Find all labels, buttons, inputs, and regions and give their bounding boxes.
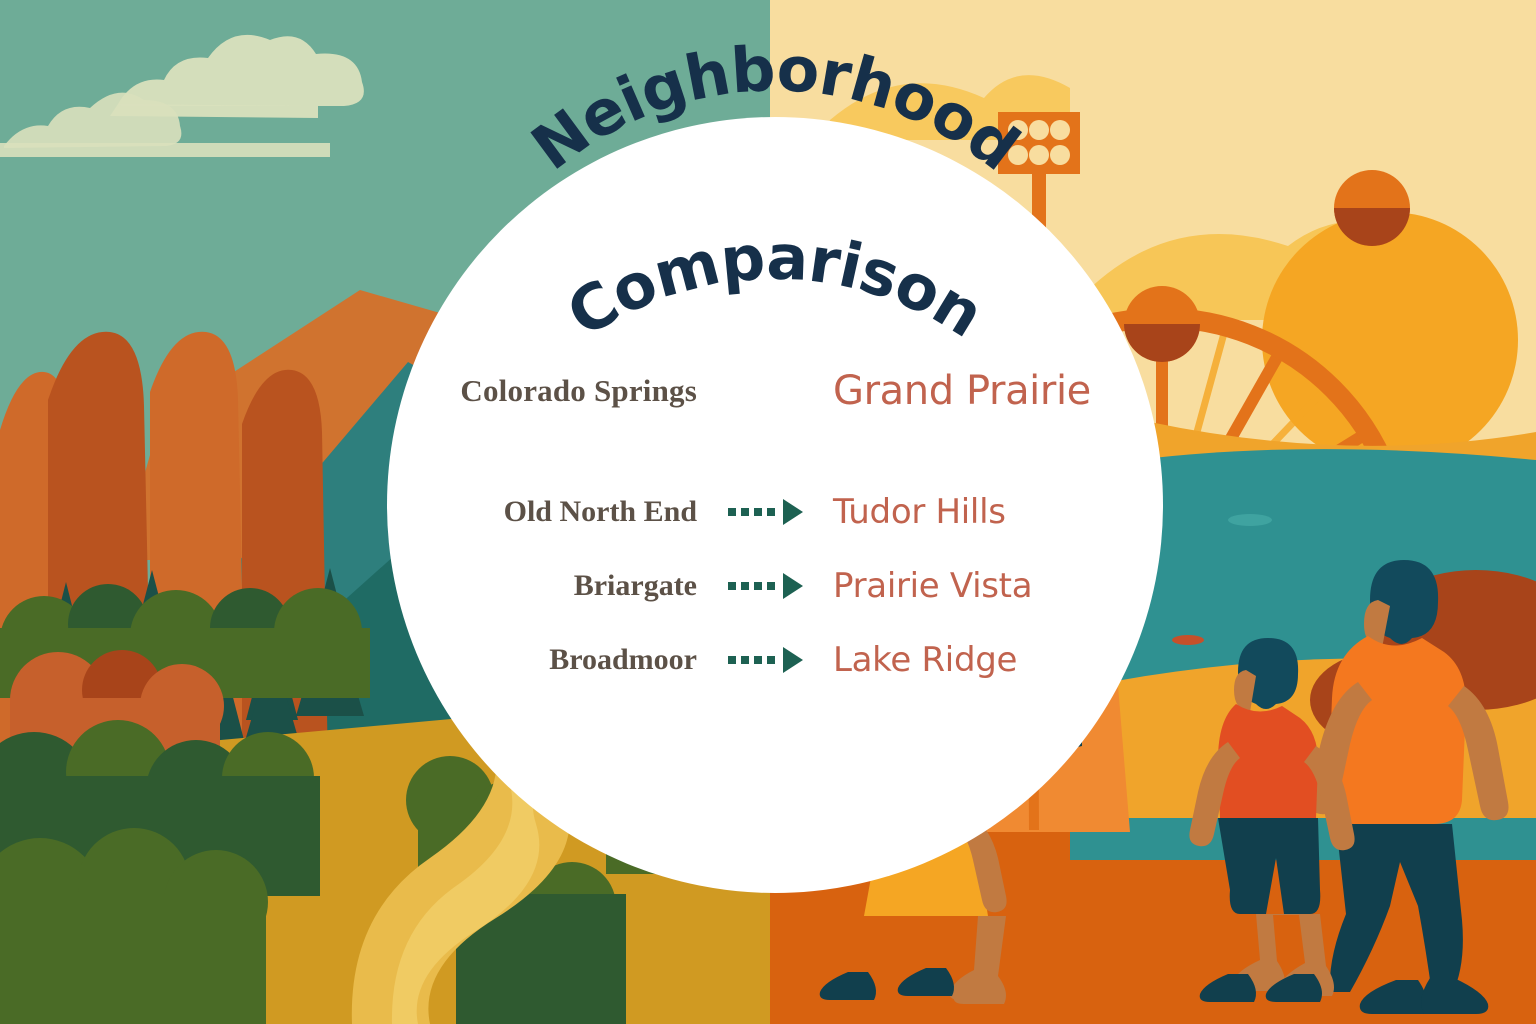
- dotted-arrow-right-icon: [728, 499, 803, 525]
- arrow-dash: [767, 582, 775, 590]
- row-left-cell: Broadmoor: [397, 643, 713, 677]
- row-left-cell: Briargate: [397, 569, 713, 603]
- arrow-tip: [783, 647, 803, 673]
- arrow-dash: [767, 508, 775, 516]
- header-right-cell: Grand Prairie: [817, 368, 1153, 414]
- dotted-arrow-right-icon: [728, 573, 803, 599]
- city-label-left: Colorado Springs: [460, 373, 697, 408]
- arrow-dash: [728, 656, 736, 664]
- water-ripple: [1228, 514, 1272, 526]
- title-line-2: Comparison: [555, 220, 996, 351]
- table-row: Briargate Prairie Vista: [400, 566, 1150, 606]
- row-mid-cell: [713, 647, 817, 673]
- arrow-tip: [783, 499, 803, 525]
- row-mid-cell: [713, 573, 817, 599]
- arrow-dash: [754, 508, 762, 516]
- neighborhood-left: Briargate: [574, 569, 697, 602]
- arrow-dash: [728, 508, 736, 516]
- sun-disc: [1262, 212, 1518, 468]
- row-mid-cell: [713, 499, 817, 525]
- arrow-dash: [728, 582, 736, 590]
- neighborhood-right: Lake Ridge: [833, 640, 1017, 680]
- row-right-cell: Lake Ridge: [817, 640, 1153, 680]
- neighborhood-left: Old North End: [504, 495, 697, 528]
- neighborhood-right: Tudor Hills: [833, 492, 1006, 532]
- arrow-dash: [741, 656, 749, 664]
- header-left-cell: Colorado Springs: [397, 373, 713, 409]
- table-row: Old North End Tudor Hills: [400, 492, 1150, 532]
- row-left-cell: Old North End: [397, 495, 713, 529]
- city-label-right: Grand Prairie: [833, 368, 1091, 414]
- arrow-dash: [741, 508, 749, 516]
- row-right-cell: Prairie Vista: [817, 566, 1153, 606]
- water-leaf: [1172, 635, 1204, 645]
- row-right-cell: Tudor Hills: [817, 492, 1153, 532]
- neighborhood-comparison-table: Colorado Springs Grand Prairie Old North…: [400, 368, 1150, 714]
- arrow-dash: [754, 582, 762, 590]
- neighborhood-left: Broadmoor: [549, 643, 697, 676]
- arrow-dash: [741, 582, 749, 590]
- infographic-canvas: Neighborhood Comparison Colorado Springs…: [0, 0, 1536, 1024]
- arrow-dash: [754, 656, 762, 664]
- arrow-tip: [783, 573, 803, 599]
- table-header-row: Colorado Springs Grand Prairie: [400, 368, 1150, 414]
- arrow-dash: [767, 656, 775, 664]
- page-title: Neighborhood Comparison: [387, 128, 1163, 408]
- table-row: Broadmoor Lake Ridge: [400, 640, 1150, 680]
- dotted-arrow-right-icon: [728, 647, 803, 673]
- neighborhood-right: Prairie Vista: [833, 566, 1032, 606]
- arched-title-svg: Neighborhood Comparison: [387, 128, 1163, 408]
